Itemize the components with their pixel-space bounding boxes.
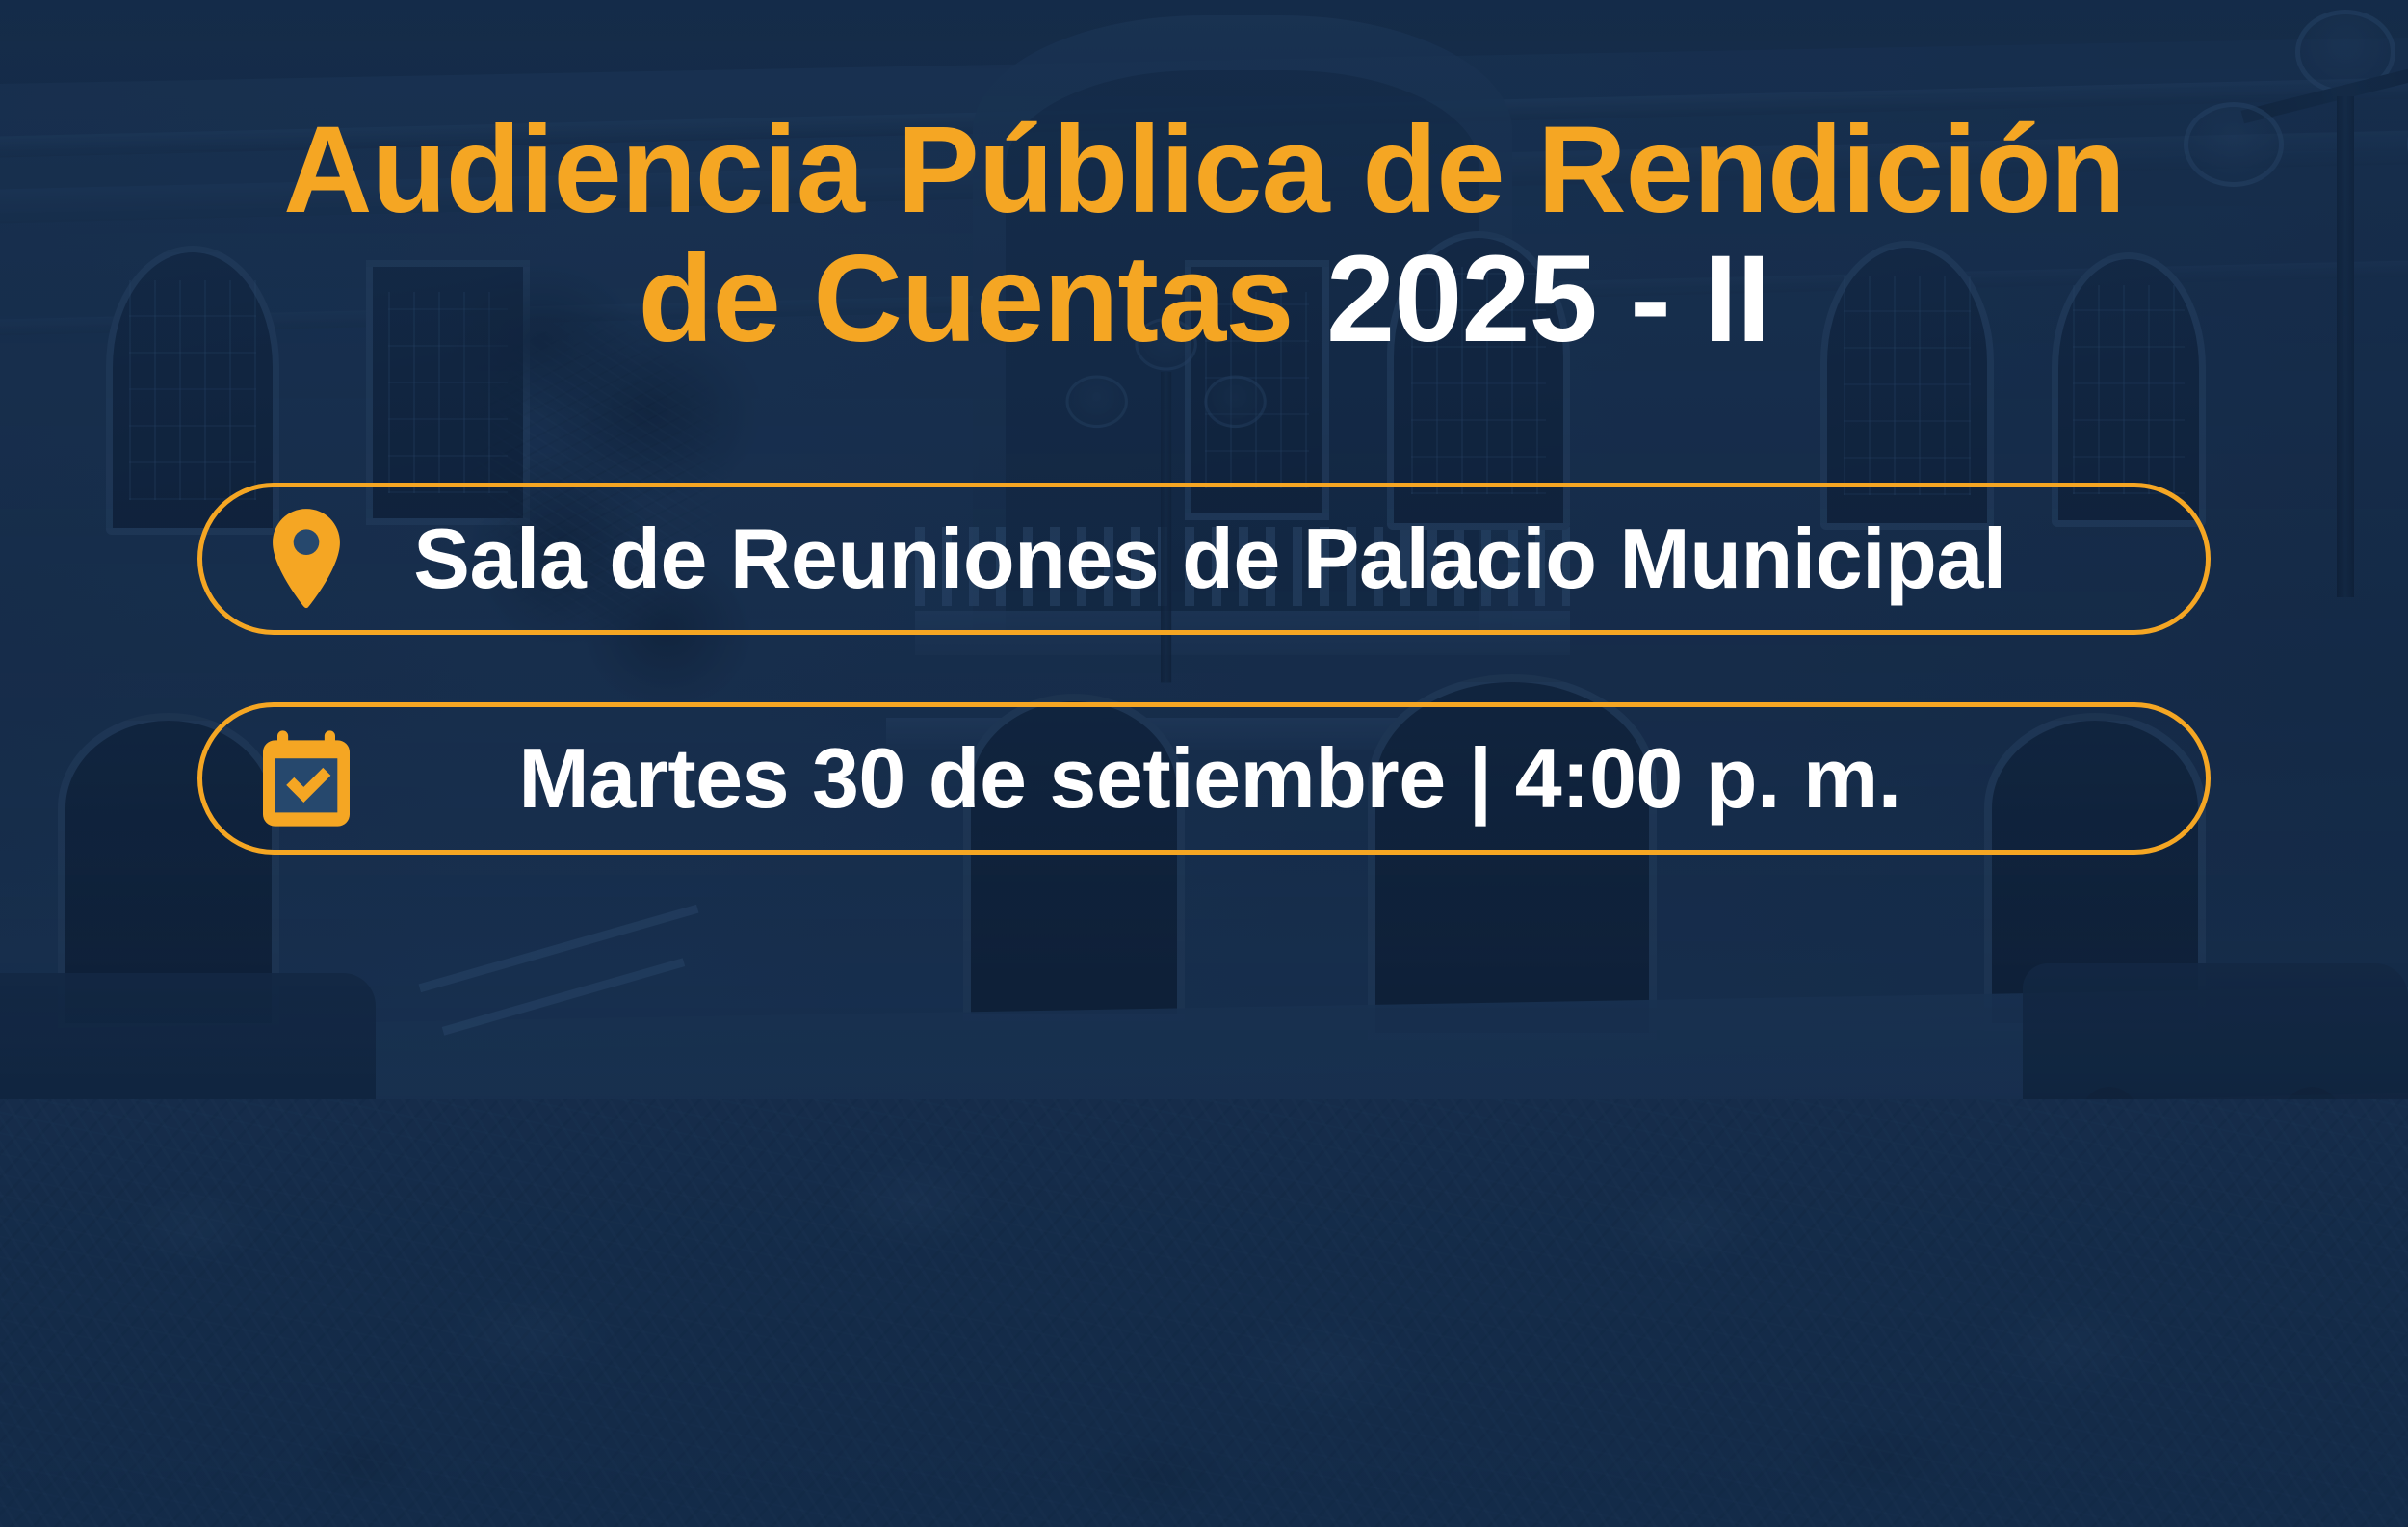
event-announcement-poster: Audiencia Pública de Rendición de Cuenta… [0, 0, 2408, 1527]
datetime-pill: Martes 30 de setiembre | 4:00 p. m. [197, 702, 2211, 855]
calendar-check-icon [254, 726, 358, 830]
location-pin-icon [254, 507, 358, 611]
venue-pill: Sala de Reuniones de Palacio Municipal [197, 483, 2211, 635]
poster-content: Audiencia Pública de Rendición de Cuenta… [0, 0, 2408, 1527]
page-title: Audiencia Pública de Rendición de Cuenta… [154, 106, 2254, 365]
title-line-1: Audiencia Pública de Rendición [283, 101, 2125, 239]
title-year: 2025 - II [1326, 230, 1770, 368]
venue-label: Sala de Reuniones de Palacio Municipal [358, 510, 2206, 608]
title-line-2: de Cuentas [638, 230, 1293, 368]
datetime-label: Martes 30 de setiembre | 4:00 p. m. [358, 729, 2206, 828]
